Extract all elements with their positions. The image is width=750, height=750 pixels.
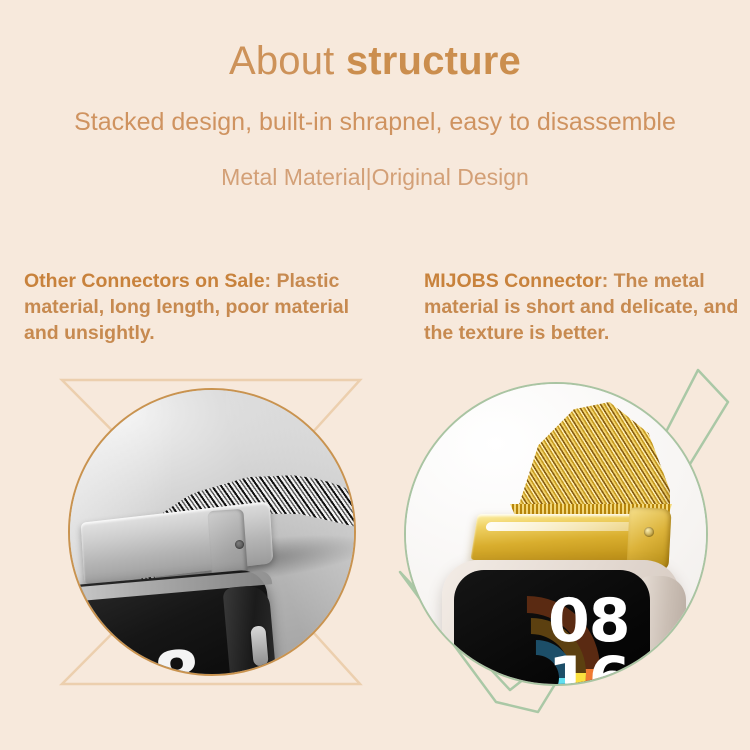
other-connector-scene: 08 bbox=[70, 390, 354, 674]
other-connector-description: Other Connectors on Sale: Plastic materi… bbox=[24, 268, 374, 346]
black-watch-time: 08 bbox=[105, 642, 203, 676]
photo-mijobs-connector: 0816 bbox=[404, 382, 708, 686]
photo-other-connector: 08 bbox=[68, 388, 356, 676]
page-header: About structure Stacked design, built-in… bbox=[0, 0, 750, 191]
mijobs-connector-lead: MIJOBS Connector bbox=[424, 270, 602, 292]
product-comparison-page: About structure Stacked design, built-in… bbox=[0, 0, 750, 750]
comparison-column-mijobs: MIJOBS Connector: The metal material is … bbox=[424, 268, 744, 346]
mijobs-connector-separator: : bbox=[602, 270, 614, 292]
mijobs-connector-description: MIJOBS Connector: The metal material is … bbox=[424, 268, 744, 346]
other-connector-lead: Other Connectors on Sale bbox=[24, 270, 265, 292]
page-title-regular: About bbox=[229, 39, 346, 83]
mijobs-connector-scene: 0816 bbox=[406, 384, 706, 684]
page-tagline: Metal Material|Original Design bbox=[0, 137, 750, 191]
plastic-connector-pin bbox=[235, 540, 244, 549]
page-title: About structure bbox=[0, 0, 750, 84]
light-watch-time: 0816 bbox=[548, 592, 630, 686]
gold-connector-screw bbox=[644, 527, 654, 537]
page-title-strong: structure bbox=[346, 39, 521, 83]
gold-connector-highlight bbox=[485, 522, 646, 531]
comparison-column-other: Other Connectors on Sale: Plastic materi… bbox=[24, 268, 374, 346]
page-subtitle: Stacked design, built-in shrapnel, easy … bbox=[0, 84, 750, 137]
other-connector-separator: : bbox=[265, 270, 277, 292]
comparison-photos: 08 0816 bbox=[0, 360, 750, 750]
light-watch-minutes: 16 bbox=[548, 644, 630, 686]
